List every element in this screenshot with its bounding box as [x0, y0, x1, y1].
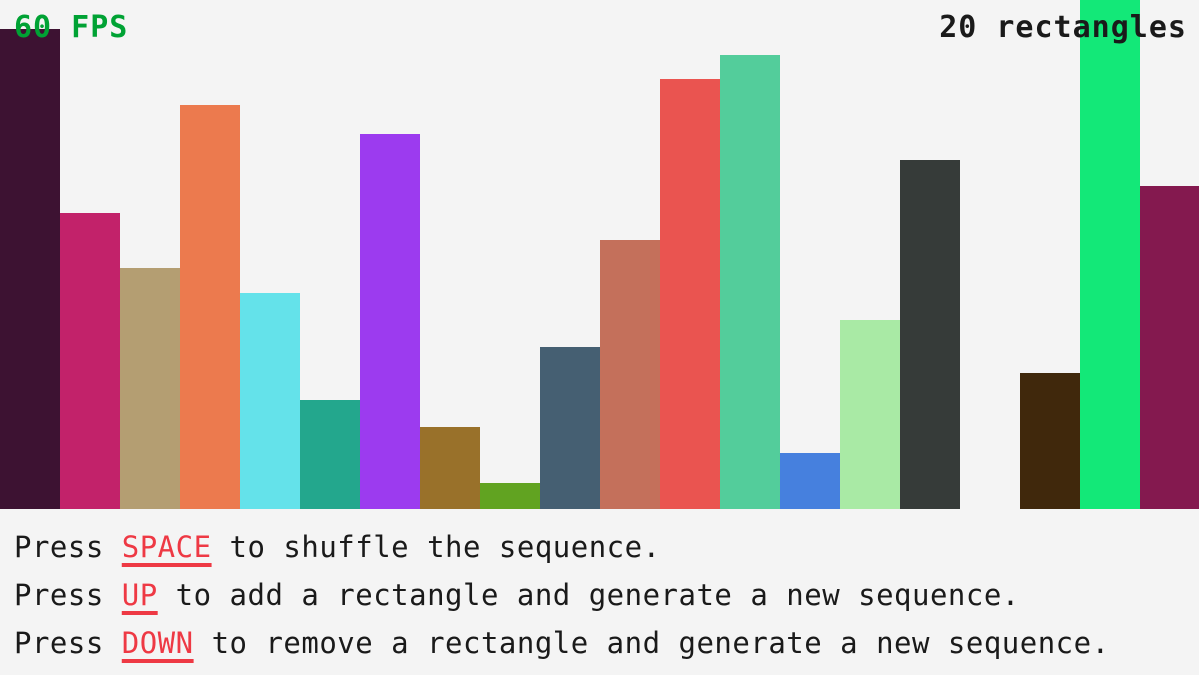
bar-12	[660, 79, 720, 509]
bar-2	[60, 213, 120, 509]
bar-15	[840, 320, 900, 509]
instruction-prefix: Press	[14, 578, 122, 612]
bar-4	[180, 105, 240, 509]
bar-7	[360, 134, 420, 509]
bar-10	[540, 347, 600, 509]
bar-14	[780, 453, 840, 509]
bar-3	[120, 268, 180, 509]
bar-1	[0, 29, 60, 509]
instruction-line-1: Press SPACE to shuffle the sequence.	[14, 523, 1199, 571]
bar-18	[1020, 373, 1080, 509]
fps-readout: 60 FPS	[14, 13, 128, 43]
rectangle-count-readout: 20 rectangles	[939, 13, 1187, 43]
instruction-suffix: to add a rectangle and generate a new se…	[158, 578, 1020, 612]
instruction-line-2: Press UP to add a rectangle and generate…	[14, 571, 1199, 619]
instruction-prefix: Press	[14, 626, 122, 660]
key-up[interactable]: UP	[122, 578, 158, 612]
bar-20	[1140, 186, 1199, 509]
rectangle-chart	[0, 0, 1199, 509]
bar-9	[480, 483, 540, 509]
key-space[interactable]: SPACE	[122, 530, 212, 564]
instruction-suffix: to remove a rectangle and generate a new…	[194, 626, 1110, 660]
bar-5	[240, 293, 300, 509]
instructions-panel: Press SPACE to shuffle the sequence.Pres…	[0, 509, 1199, 675]
instruction-line-3: Press DOWN to remove a rectangle and gen…	[14, 619, 1199, 667]
instruction-suffix: to shuffle the sequence.	[212, 530, 661, 564]
instruction-prefix: Press	[14, 530, 122, 564]
bar-19	[1080, 0, 1140, 509]
bar-16	[900, 160, 960, 509]
bar-6	[300, 400, 360, 509]
bar-13	[720, 55, 780, 509]
bar-8	[420, 427, 480, 509]
key-down[interactable]: DOWN	[122, 626, 194, 660]
app-root: 60 FPS 20 rectangles Press SPACE to shuf…	[0, 0, 1199, 675]
bar-11	[600, 240, 660, 509]
